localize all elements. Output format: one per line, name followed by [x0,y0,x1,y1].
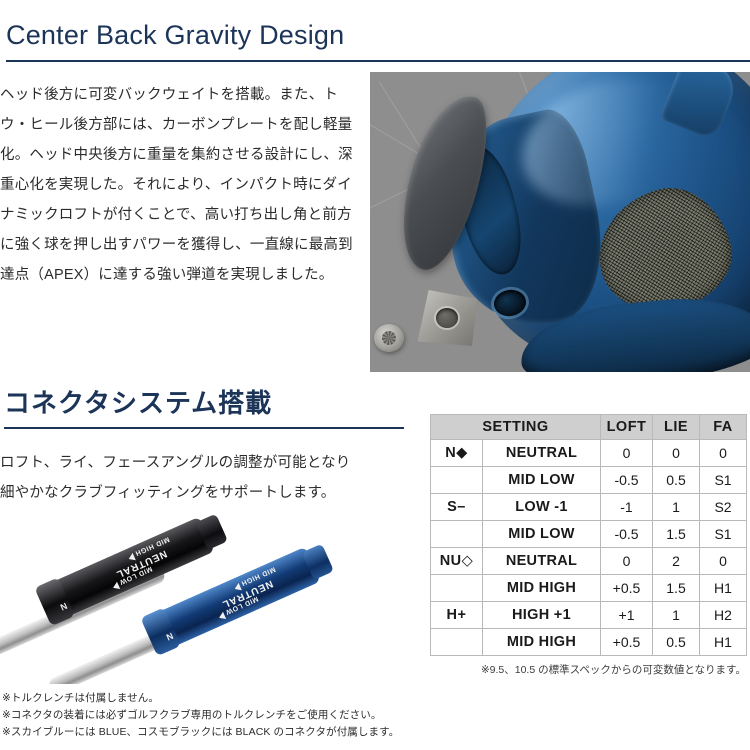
table-row: NU◇NEUTRAL020 [431,548,747,575]
weight-bore [436,308,458,328]
column-header-setting: SETTING [431,415,601,440]
cell-loft: +1 [601,602,653,629]
connector-sleeves-photo: N MID HIGH NEUTRAL MID LOW N MID HIGH NE… [0,512,420,684]
cell-setting: MID HIGH [483,629,601,656]
cell-fa: S2 [700,494,747,521]
cell-lie: 2 [653,548,700,575]
cell-loft: -0.5 [601,467,653,494]
cell-fa: H1 [700,575,747,602]
column-header-loft: LOFT [601,415,653,440]
cell-loft: 0 [601,548,653,575]
section-heading-connector: コネクタシステム搭載 [4,390,272,416]
table-row: MID LOW-0.51.5S1 [431,521,747,548]
cell-fa: 0 [700,440,747,467]
heading-divider [6,60,750,62]
cell-loft: -0.5 [601,521,653,548]
cell-code [431,521,483,548]
cell-setting: LOW -1 [483,494,601,521]
cell-setting: MID LOW [483,467,601,494]
table-row: H+HIGH +1+11H2 [431,602,747,629]
footnote-2: ※コネクタの装着には必ずゴルフクラブ専用のトルクレンチをご使用ください。 [2,707,522,724]
cell-fa: 0 [700,548,747,575]
cell-fa: H2 [700,602,747,629]
cell-lie: 1 [653,602,700,629]
table-footnote: ※9.5、10.5 の標準スペックからの可変数値となります。 [430,662,746,677]
table-row: S–LOW -1-11S2 [431,494,747,521]
cell-fa: S1 [700,467,747,494]
gravity-description: ヘッド後方に可変バックウェイトを搭載。また、トウ・ヒール後方部には、カーボンプレ… [0,80,366,290]
connector-description: ロフト、ライ、フェースアングルの調整が可能となり細やかなクラブフィッティングをサ… [0,448,360,508]
cell-setting: NEUTRAL [483,548,601,575]
section-heading-gravity: Center Back Gravity Design [6,22,344,49]
cell-lie: 1 [653,494,700,521]
page-title: Center Back Gravity Design [6,22,344,49]
column-header-fa: FA [700,415,747,440]
table-row: N◆NEUTRAL000 [431,440,747,467]
footnote-3: ※スカイブルーには BLUE、コスモブラックには BLACK のコネクタが付属し… [2,724,522,741]
cell-fa: H1 [700,629,747,656]
cell-setting: NEUTRAL [483,440,601,467]
table-row: MID HIGH+0.50.5H1 [431,629,747,656]
cell-setting: MID HIGH [483,575,601,602]
cell-code [431,575,483,602]
table-row: MID LOW-0.50.5S1 [431,467,747,494]
table-header-row: SETTING LOFT LIE FA [431,415,747,440]
connector-title: コネクタシステム搭載 [4,390,272,416]
cell-lie: 0 [653,440,700,467]
cell-lie: 0.5 [653,467,700,494]
table-row: MID HIGH+0.51.5H1 [431,575,747,602]
cell-lie: 0.5 [653,629,700,656]
cell-code [431,629,483,656]
cell-loft: +0.5 [601,629,653,656]
footnotes-block: ※トルクレンチは付属しません。 ※コネクタの装着には必ずゴルフクラブ専用のトルク… [2,690,522,741]
cell-code: S– [431,494,483,521]
cell-code [431,467,483,494]
column-header-lie: LIE [653,415,700,440]
cell-fa: S1 [700,521,747,548]
cell-lie: 1.5 [653,521,700,548]
footnote-1: ※トルクレンチは付属しません。 [2,690,522,707]
heading-divider [4,427,404,429]
cell-lie: 1.5 [653,575,700,602]
cell-setting: MID LOW [483,521,601,548]
cell-loft: 0 [601,440,653,467]
cell-loft: +0.5 [601,575,653,602]
cell-code: N◆ [431,440,483,467]
sleeve-cap [302,544,334,580]
screw-part [374,324,404,352]
cell-setting: HIGH +1 [483,602,601,629]
cell-loft: -1 [601,494,653,521]
setting-spec-table: SETTING LOFT LIE FA N◆NEUTRAL000MID LOW-… [430,414,747,656]
sleeve-cap [196,514,228,550]
cell-code: NU◇ [431,548,483,575]
driver-head-photo [370,72,750,372]
product-feature-page: Center Back Gravity Design ヘッド後方に可変バックウェ… [0,0,750,750]
cell-code: H+ [431,602,483,629]
